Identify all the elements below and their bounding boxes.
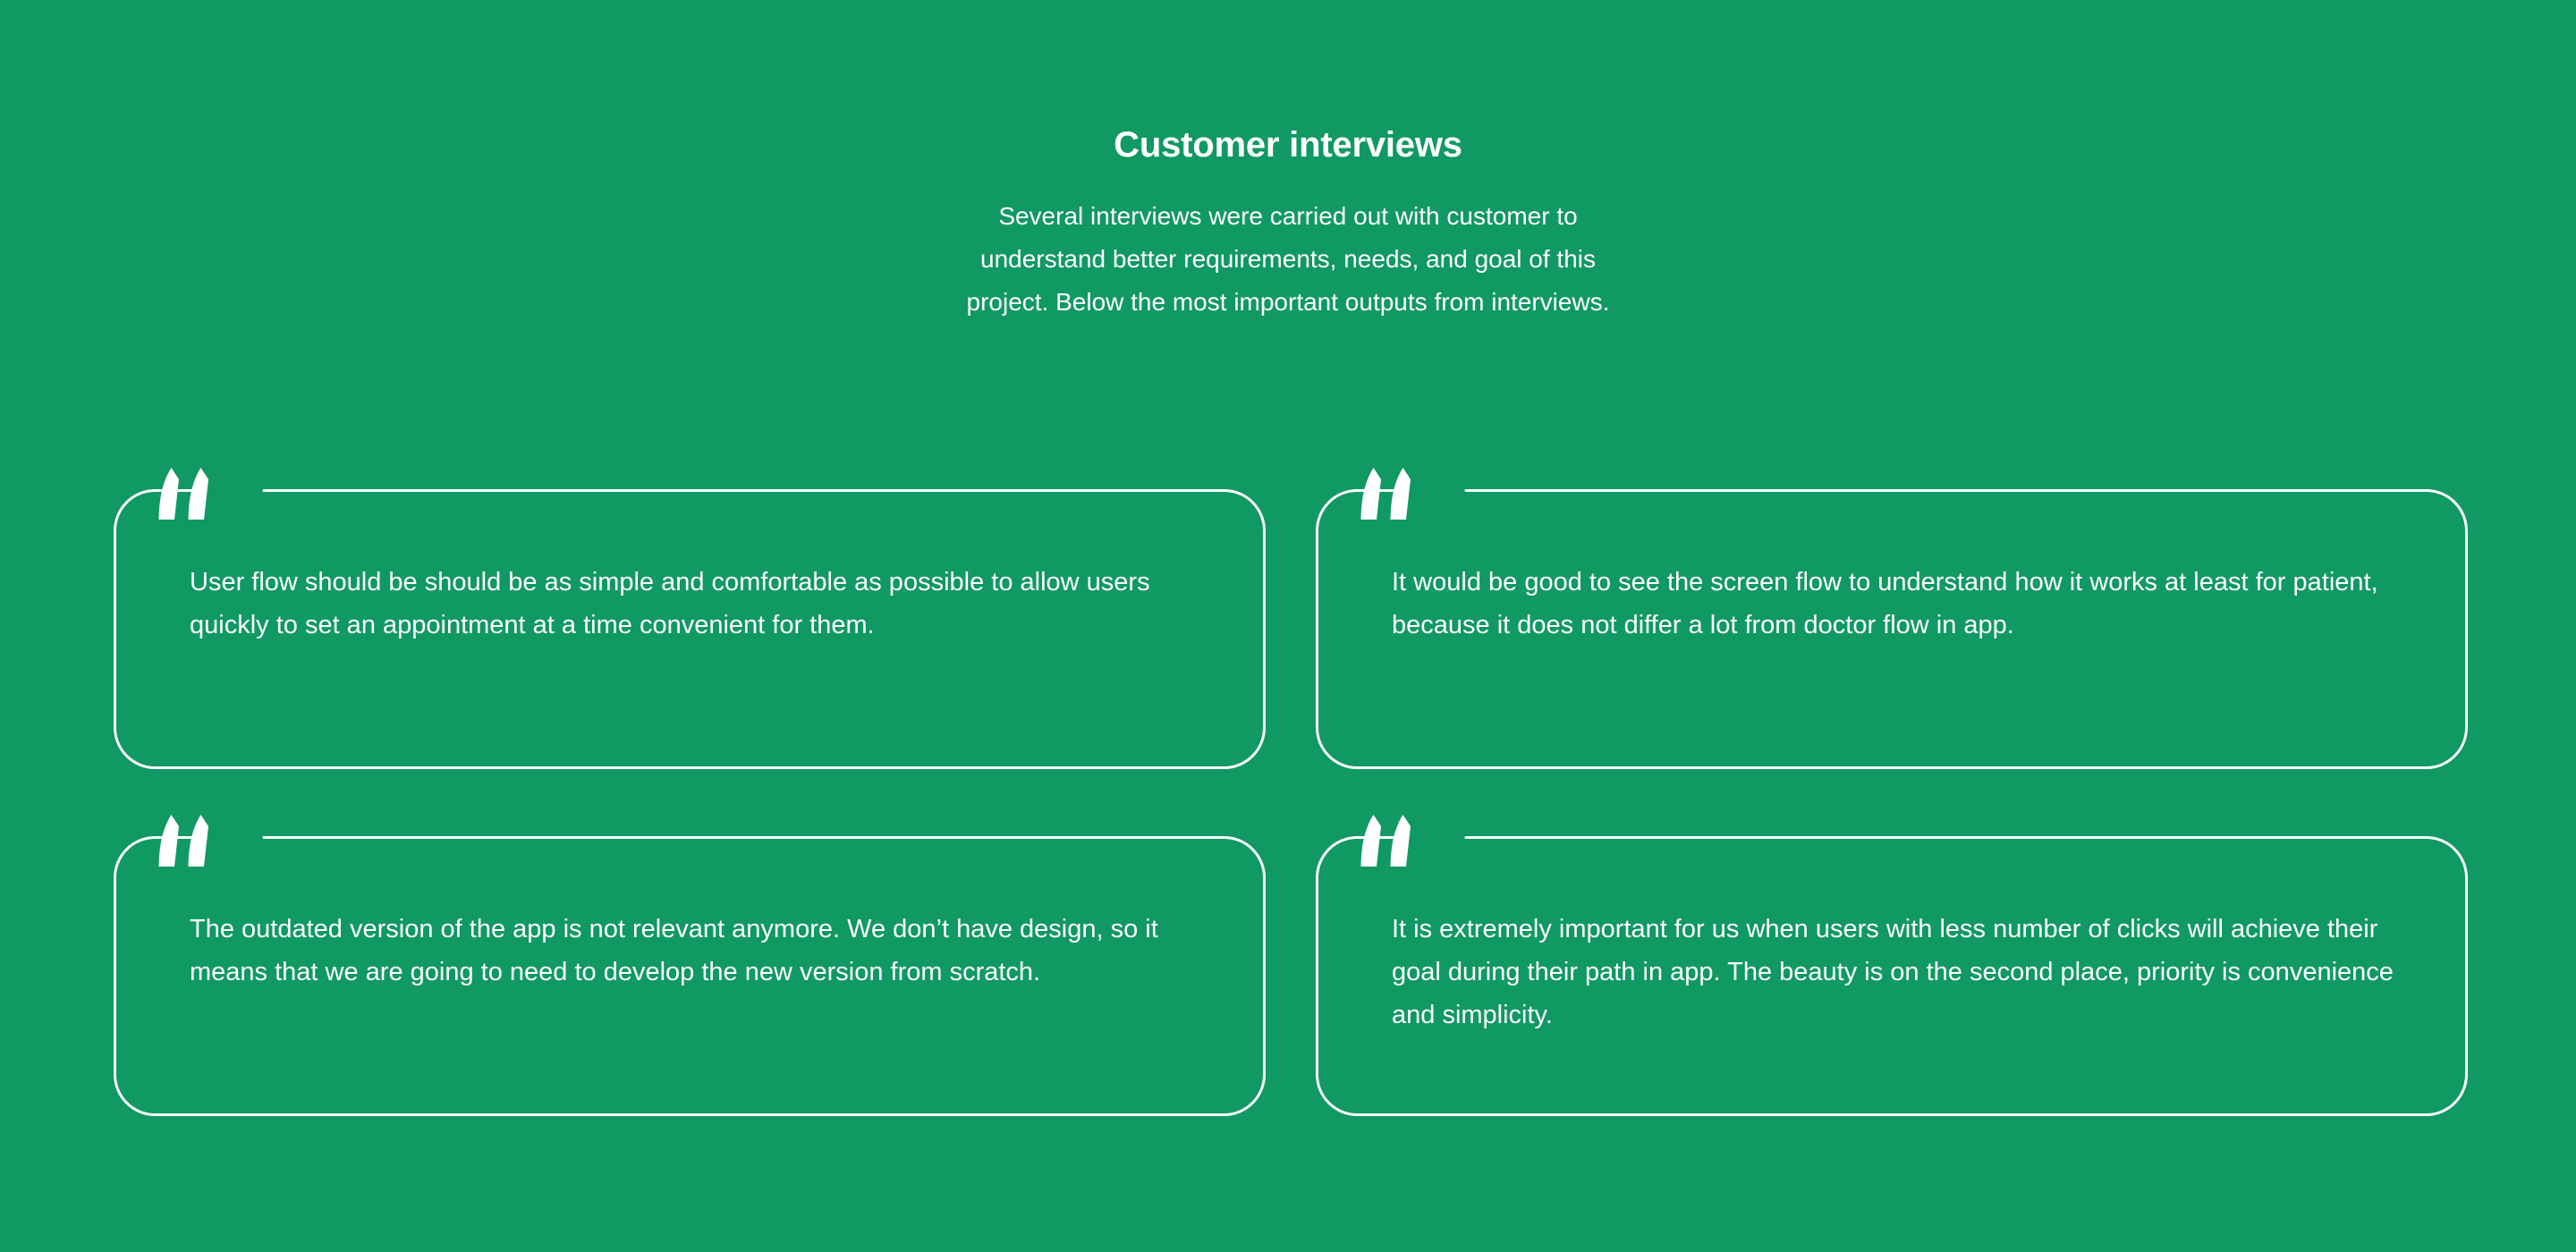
quote-mark-icon xyxy=(1353,468,1418,520)
quote-text: User flow should be should be as simple … xyxy=(190,561,1203,647)
quote-mark-icon xyxy=(151,468,216,520)
customer-interviews-slide: Customer interviews Several interviews w… xyxy=(0,0,2576,1252)
quote-mark-icon xyxy=(1353,815,1418,867)
quote-mark-icon xyxy=(151,815,216,867)
quote-card: It is extremely important for us when us… xyxy=(1316,836,2468,1116)
quote-text: It is extremely important for us when us… xyxy=(1392,908,2405,1036)
quote-card: The outdated version of the app is not r… xyxy=(114,836,1266,1116)
quote-card-grid: User flow should be should be as simple … xyxy=(114,489,2468,1116)
quote-card: User flow should be should be as simple … xyxy=(114,489,1266,769)
page-subtitle: Several interviews were carried out with… xyxy=(0,165,2576,324)
quote-text: The outdated version of the app is not r… xyxy=(190,908,1203,994)
page-title: Customer interviews xyxy=(0,125,2576,165)
quote-card: It would be good to see the screen flow … xyxy=(1316,489,2468,769)
header: Customer interviews Several interviews w… xyxy=(0,0,2576,324)
quote-text: It would be good to see the screen flow … xyxy=(1392,561,2405,647)
